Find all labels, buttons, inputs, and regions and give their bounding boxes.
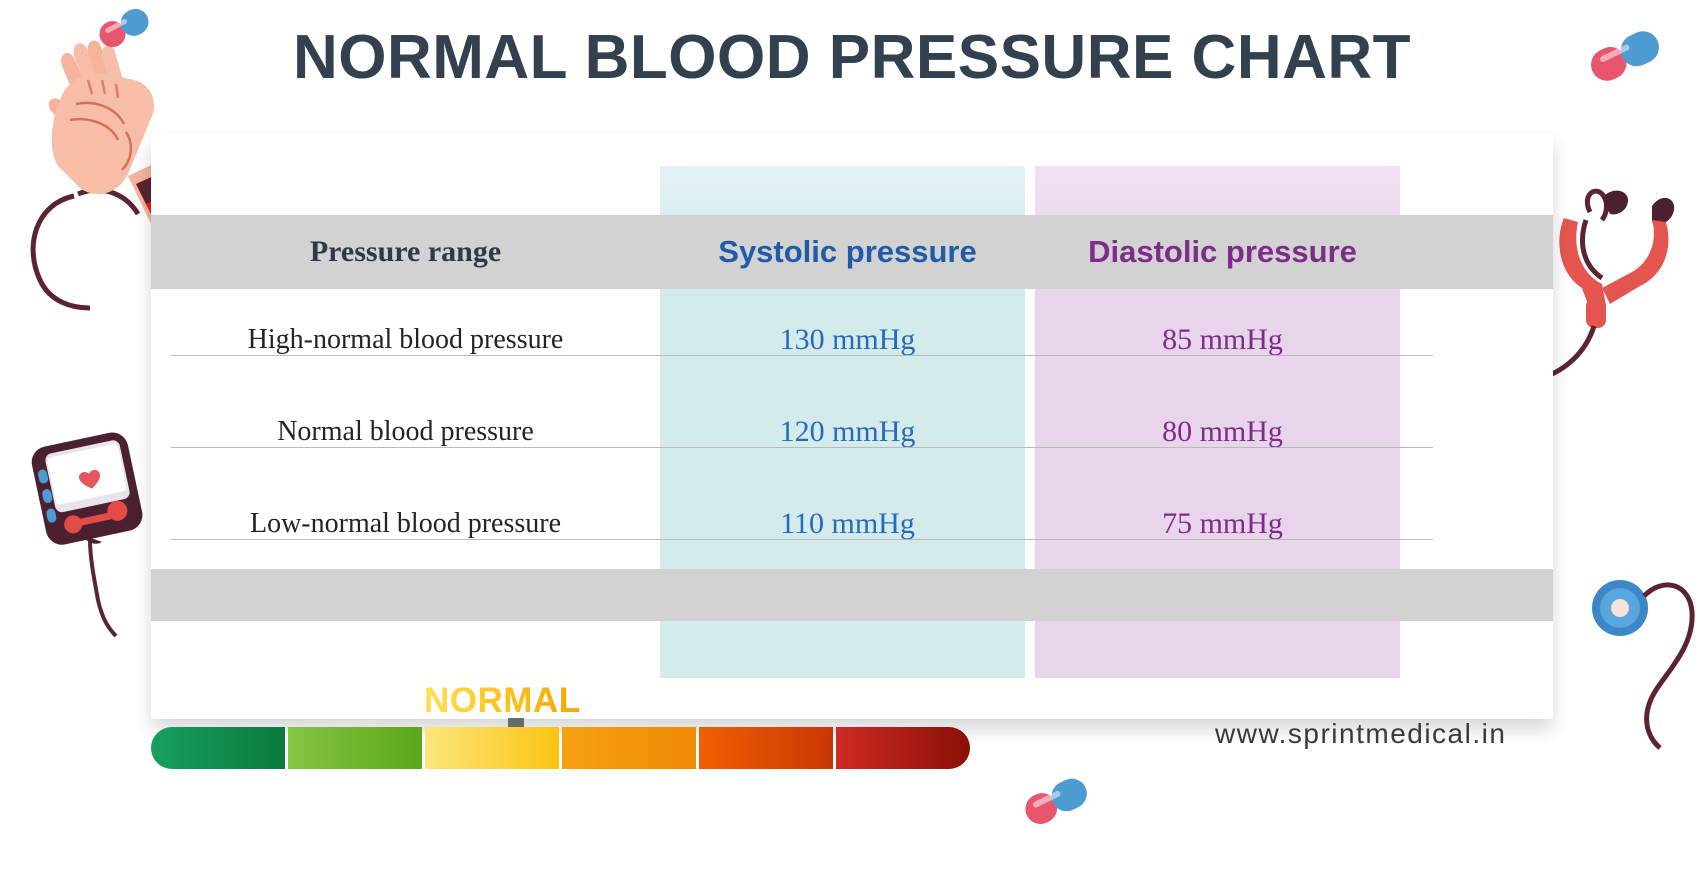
severity-segment-2 — [288, 727, 422, 769]
table-row: High-normal blood pressure 130 mmHg 85 m… — [151, 293, 1553, 387]
row-divider — [171, 447, 1433, 448]
cell-pressure-range: High-normal blood pressure — [151, 324, 660, 356]
table-row: Low-normal blood pressure 110 mmHg 75 mm… — [151, 477, 1553, 571]
cell-systolic-value: 130 mmHg — [660, 323, 1035, 357]
table-header-row: Pressure range Systolic pressure Diastol… — [151, 215, 1553, 289]
infographic-canvas: NORMAL BLOOD PRESSURE CHART Pressure ran… — [0, 0, 1704, 870]
page-title: NORMAL BLOOD PRESSURE CHART — [0, 22, 1704, 93]
cell-diastolic-value: 80 mmHg — [1035, 415, 1410, 449]
stethoscope-illustration — [1528, 178, 1704, 598]
severity-segment-3 — [425, 727, 559, 769]
severity-segment-4 — [562, 727, 696, 769]
severity-segment-6 — [836, 727, 970, 769]
column-header-systolic-pressure: Systolic pressure — [660, 234, 1035, 270]
capsule-pill-bottom-icon — [1022, 776, 1092, 828]
blood-pressure-table: Pressure range Systolic pressure Diastol… — [151, 133, 1553, 719]
table-row: Normal blood pressure 120 mmHg 80 mmHg — [151, 385, 1553, 479]
cell-pressure-range: Low-normal blood pressure — [151, 508, 660, 540]
cell-systolic-value: 110 mmHg — [660, 507, 1035, 541]
cell-diastolic-value: 85 mmHg — [1035, 323, 1410, 357]
severity-segment-1 — [151, 727, 285, 769]
severity-segment-5 — [699, 727, 833, 769]
row-divider — [171, 355, 1433, 356]
cell-pressure-range: Normal blood pressure — [151, 416, 660, 448]
cell-diastolic-value: 75 mmHg — [1035, 507, 1410, 541]
cell-systolic-value: 120 mmHg — [660, 415, 1035, 449]
column-header-diastolic-pressure: Diastolic pressure — [1035, 234, 1410, 270]
severity-scale-bar — [151, 727, 970, 769]
website-url[interactable]: www.sprintmedical.in — [1215, 718, 1506, 750]
chart-card: Pressure range Systolic pressure Diastol… — [151, 133, 1553, 719]
row-divider — [171, 539, 1433, 540]
column-header-pressure-range: Pressure range — [151, 235, 660, 269]
stethoscope-chestpiece-icon — [1586, 570, 1704, 770]
severity-marker-label: NORMAL — [424, 681, 581, 721]
